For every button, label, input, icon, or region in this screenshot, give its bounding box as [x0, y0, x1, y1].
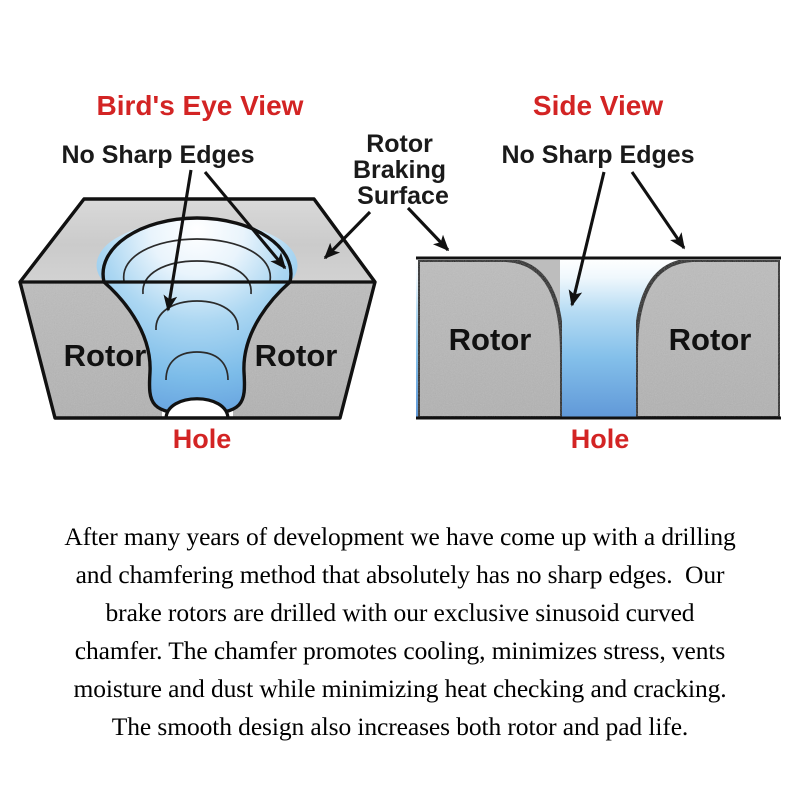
caption-line: After many years of development we have …	[0, 518, 800, 556]
caption-line: chamfer. The chamfer promotes cooling, m…	[0, 632, 800, 670]
rbs-line-2: Braking	[353, 156, 446, 184]
side-hole-label: Hole	[571, 424, 630, 454]
birds-eye-view-diagram: Bird's Eye View No Sharp Edges Rotor Bra…	[20, 90, 453, 454]
left-rotor-label-left: Rotor	[64, 338, 147, 373]
rbs-line-3: Surface	[357, 182, 449, 210]
diagram-figure: Bird's Eye View No Sharp Edges Rotor Bra…	[0, 0, 800, 470]
right-view-title: Side View	[533, 90, 663, 121]
rbs-line-1: Rotor	[366, 130, 433, 158]
caption-paragraph: After many years of development we have …	[0, 518, 800, 746]
side-rotor-label-right: Rotor	[669, 322, 752, 357]
rotor-braking-surface-arrow-right	[408, 208, 448, 250]
left-view-title: Bird's Eye View	[97, 90, 304, 121]
side-no-sharp-edges-arrow-b	[632, 172, 684, 248]
side-view-diagram: Side View No Sharp Edges Rotor Rotor Hol…	[408, 90, 781, 454]
caption-line: and chamfering method that absolutely ha…	[0, 556, 800, 594]
caption-line: moisture and dust while minimizing heat …	[0, 670, 800, 708]
left-rotor-label-right: Rotor	[255, 338, 338, 373]
caption-line: The smooth design also increases both ro…	[0, 708, 800, 746]
left-no-sharp-edges-label: No Sharp Edges	[61, 141, 254, 169]
left-hole-label: Hole	[173, 424, 232, 454]
side-rotor-label-left: Rotor	[449, 322, 532, 357]
rotor-braking-surface-label: Rotor Braking Surface	[353, 130, 453, 210]
right-no-sharp-edges-label: No Sharp Edges	[501, 141, 694, 169]
caption-line: brake rotors are drilled with our exclus…	[0, 594, 800, 632]
